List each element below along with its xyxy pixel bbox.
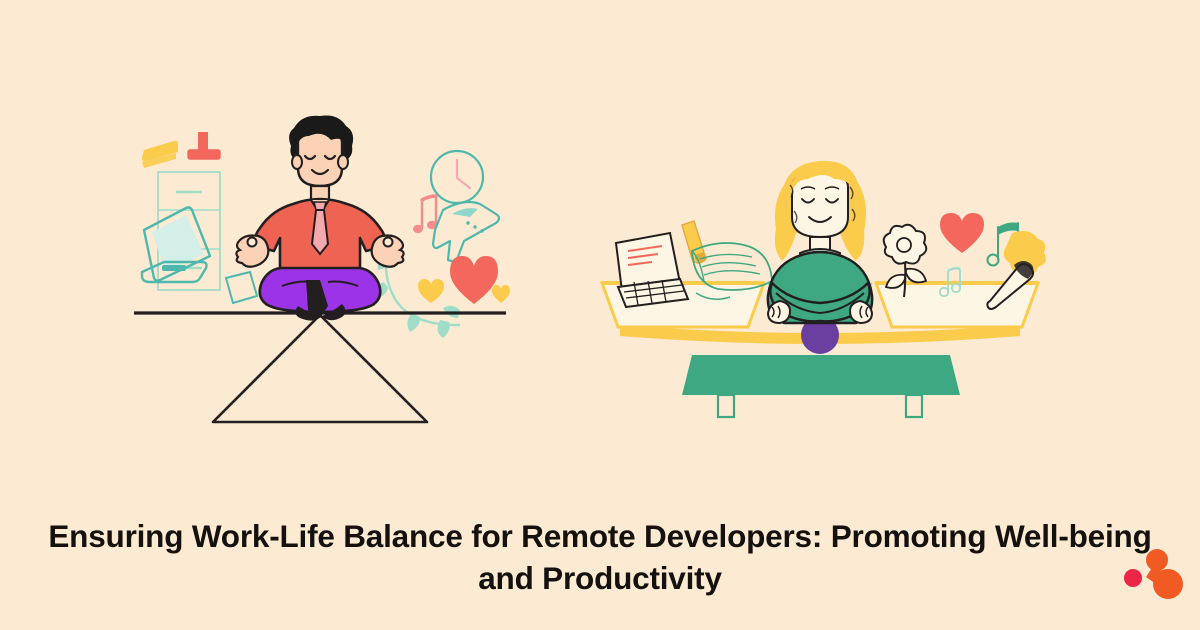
laptop-icon — [616, 233, 688, 307]
left-hand — [236, 236, 268, 267]
logo-red-dot — [1124, 569, 1142, 587]
heart-icon — [940, 213, 984, 253]
molecule-logo[interactable] — [1116, 544, 1188, 608]
logo-orange-small — [1146, 549, 1168, 571]
pencil-icon — [682, 221, 706, 263]
stapler-icon — [142, 141, 178, 168]
page-title: Ensuring Work-Life Balance for Remote De… — [40, 516, 1160, 599]
music-note-icon — [413, 196, 437, 233]
illustration-stage — [0, 0, 1200, 480]
title-block: Ensuring Work-Life Balance for Remote De… — [0, 516, 1200, 599]
illustration-meditating-developer — [130, 110, 510, 460]
sticky-note-icon — [226, 272, 257, 303]
heart-icon — [450, 256, 498, 304]
right-hand — [372, 236, 404, 267]
banner-canvas: Ensuring Work-Life Balance for Remote De… — [0, 0, 1200, 630]
seesaw-base — [134, 313, 506, 422]
woman-figure — [768, 161, 872, 323]
stamp-icon — [188, 132, 220, 159]
bench-base — [682, 355, 960, 417]
laptop-icon — [142, 207, 210, 282]
clock-icon — [431, 151, 483, 203]
airplane-icon — [433, 202, 499, 262]
meditating-figure — [236, 115, 403, 320]
illustration-balance-scale — [600, 155, 1040, 405]
